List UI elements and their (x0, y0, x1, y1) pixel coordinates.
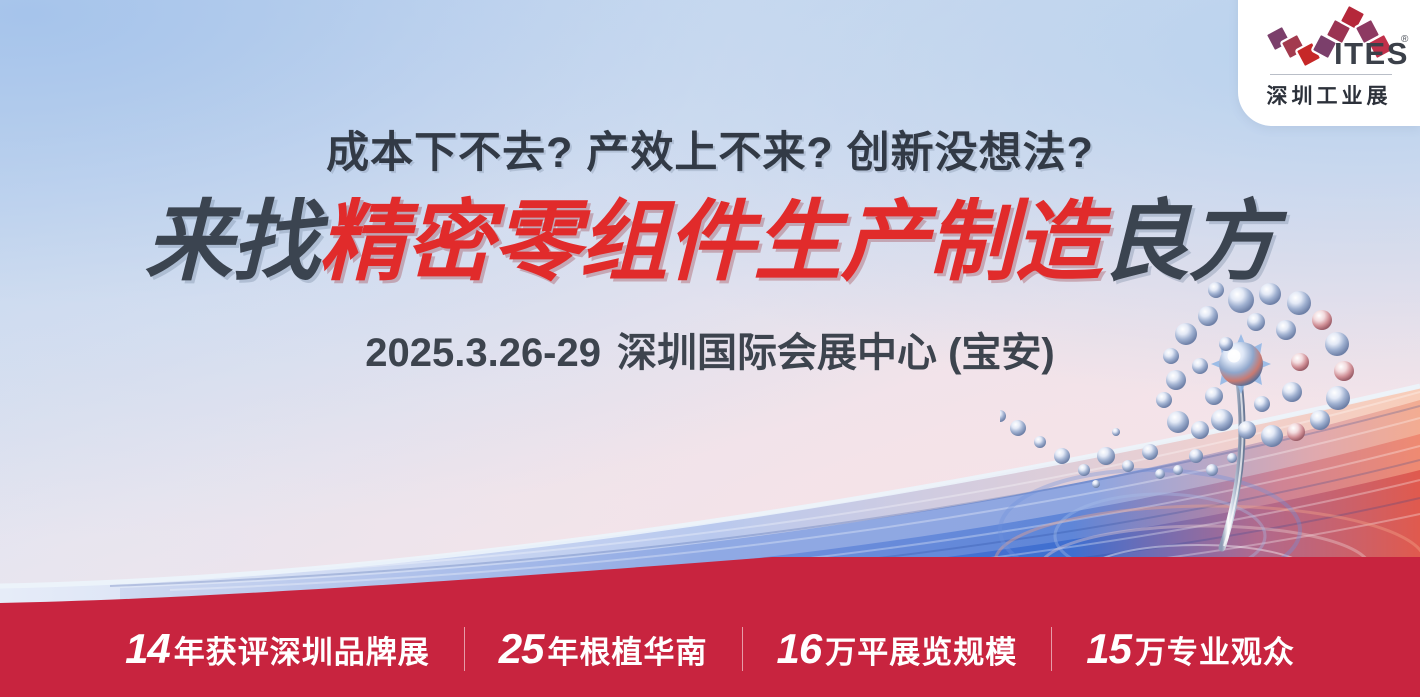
registered-trademark-icon: ® (1401, 34, 1408, 45)
stat-number: 14 (125, 625, 170, 673)
headline-part-3: 良方 (1102, 192, 1276, 291)
stat-item: 16 万平展览规模 (743, 625, 1052, 673)
kicker-line: 成本下不去? 产效上不来? 创新没想法? (0, 118, 1420, 180)
logo-chinese-name: 深圳工业展 (1238, 80, 1420, 110)
logo-card-inner: ITES ® 深圳工业展 (1238, 0, 1420, 126)
stat-number: 16 (777, 625, 822, 673)
logo-divider (1270, 74, 1392, 75)
stats-bar: 14 年获评深圳品牌展 25 年根植华南 16 万平展览规模 15 万专业观众 (0, 557, 1420, 697)
event-info: 2025.3.26-29深圳国际会展中心 (宝安) (0, 320, 1420, 378)
event-date: 2025.3.26-29 (365, 331, 601, 375)
event-venue: 深圳国际会展中心 (宝安) (617, 331, 1055, 375)
stats-list: 14 年获评深圳品牌展 25 年根植华南 16 万平展览规模 15 万专业观众 (0, 601, 1420, 697)
stat-item: 25 年根植华南 (465, 625, 742, 673)
logo-wordmark: ITES (1334, 36, 1409, 72)
stat-text: 万专业观众 (1135, 627, 1295, 672)
stat-text: 年根植华南 (548, 627, 708, 672)
stat-text: 万平展览规模 (825, 627, 1017, 672)
stat-number: 25 (499, 625, 544, 673)
main-headline: 来找精密零组件生产制造良方 (0, 196, 1420, 288)
promo-banner: 成本下不去? 产效上不来? 创新没想法? 来找精密零组件生产制造良方 2025.… (0, 0, 1420, 697)
headline-part-1: 来找 (144, 192, 318, 291)
stat-item: 15 万专业观众 (1052, 625, 1329, 673)
ites-logo-card[interactable]: ITES ® 深圳工业展 (1238, 0, 1420, 126)
stat-text: 年获评深圳品牌展 (174, 627, 430, 672)
stat-item: 14 年获评深圳品牌展 (91, 625, 464, 673)
headline-part-2: 精密零组件生产制造 (318, 192, 1101, 291)
stat-number: 15 (1086, 625, 1131, 673)
